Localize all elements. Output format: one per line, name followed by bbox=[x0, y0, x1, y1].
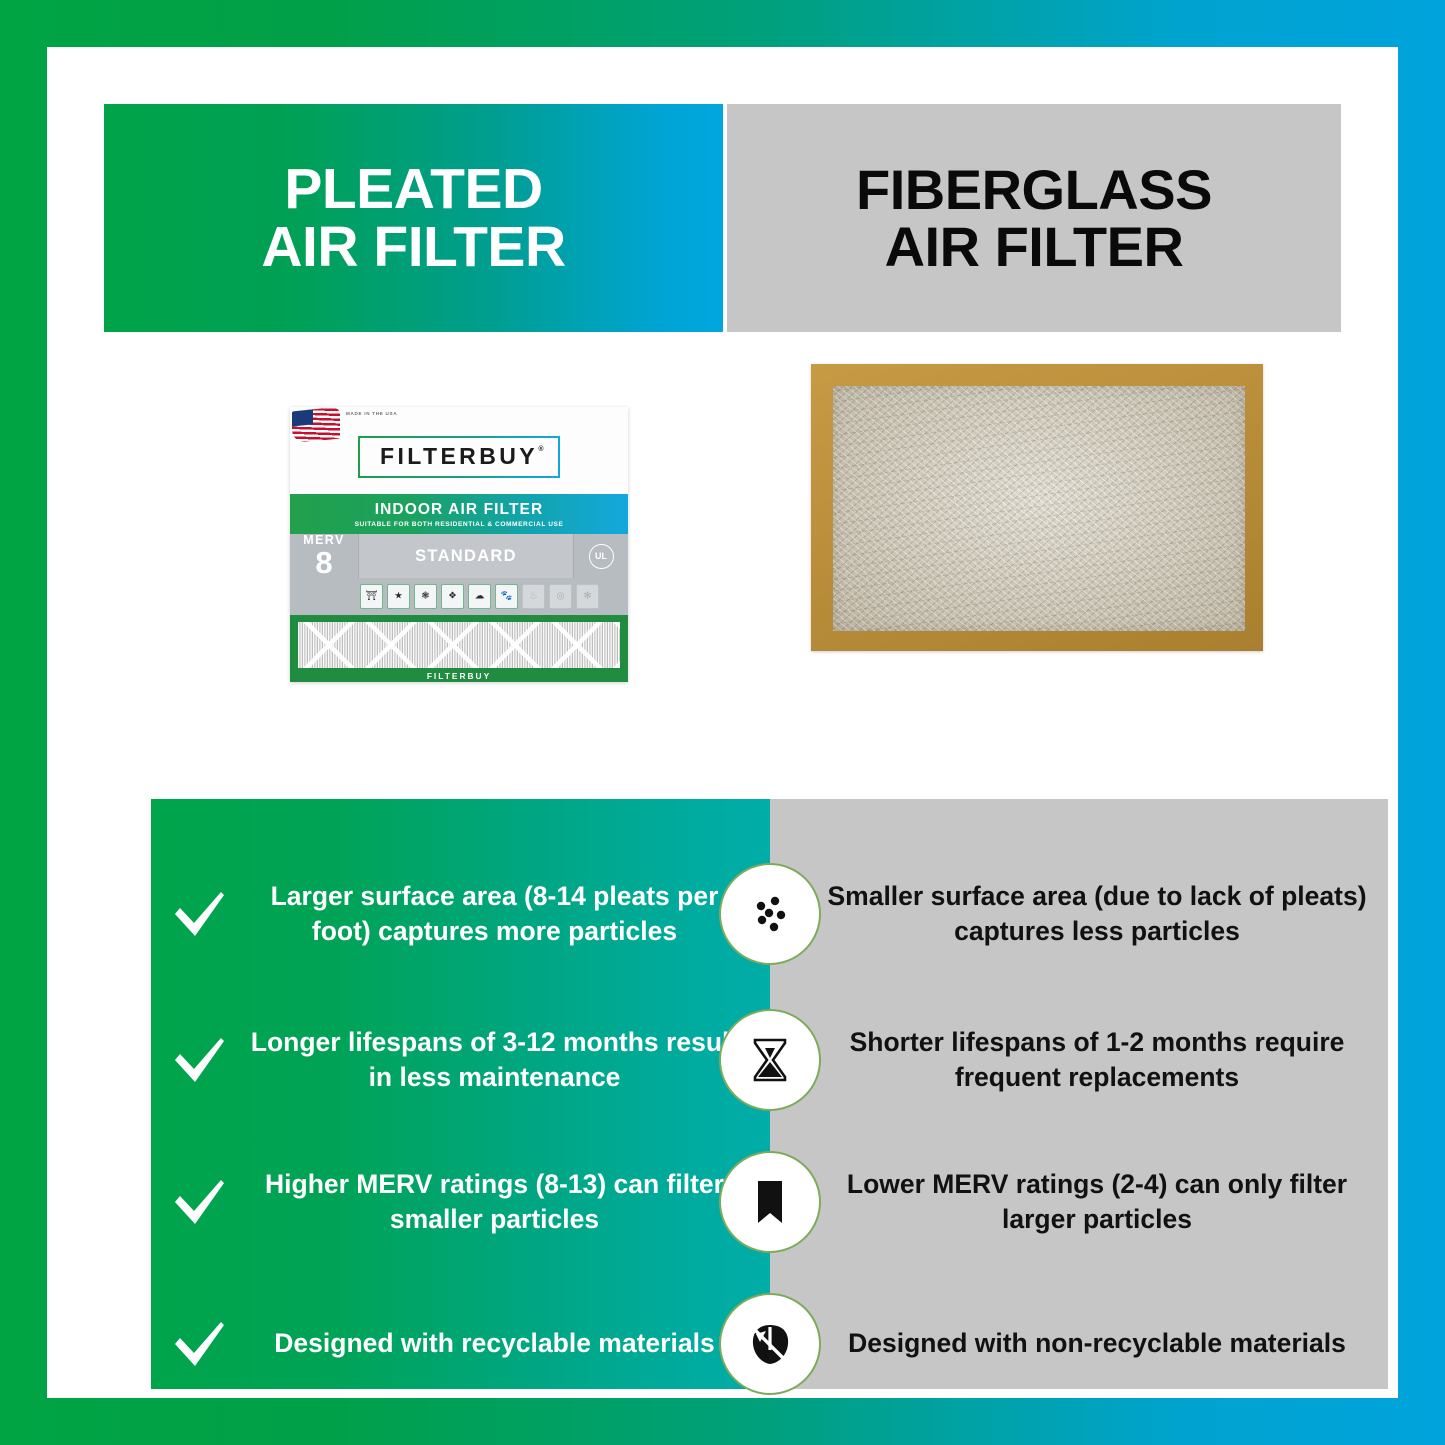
header-fiberglass-line1: FIBERGLASS bbox=[856, 161, 1212, 218]
ul-certification-icon: UL bbox=[589, 544, 614, 569]
fiberglass-product-cell bbox=[723, 332, 1341, 747]
row-pleated-side: Designed with recyclable materials bbox=[151, 1273, 770, 1415]
merv-rating-block: MERV 8 bbox=[290, 534, 358, 578]
pet-dander-icon: 🐾 bbox=[495, 584, 518, 609]
comparison-row: Longer lifespans of 3-12 months result i… bbox=[151, 989, 1388, 1131]
comparison-row: Larger surface area (8-14 pleats per foo… bbox=[151, 839, 1388, 989]
brand-name-text: FILTERBUY bbox=[380, 443, 538, 469]
bacteria-icon: ◎ bbox=[549, 584, 572, 609]
row-fiberglass-text: Designed with non-recyclable materials bbox=[770, 1326, 1388, 1361]
made-in-usa-text: MADE IN THE USA bbox=[346, 411, 397, 418]
brand-name: FILTERBUY® bbox=[380, 445, 538, 468]
comparison-panel: Larger surface area (8-14 pleats per foo… bbox=[151, 799, 1388, 1389]
fiberglass-media-texture bbox=[833, 386, 1245, 631]
hourglass-icon bbox=[719, 1009, 821, 1111]
checkmark-icon bbox=[151, 1318, 247, 1370]
pleat-texture bbox=[298, 622, 620, 668]
row-pleated-side: Longer lifespans of 3-12 months result i… bbox=[151, 989, 770, 1131]
package-band-title: INDOOR AIR FILTER bbox=[375, 501, 544, 519]
checkmark-icon bbox=[151, 1034, 247, 1086]
comparison-rows: Larger surface area (8-14 pleats per foo… bbox=[151, 799, 1388, 1389]
pleated-product-cell: MADE IN THE USA FILTERBUY® INDOOR AIR FI… bbox=[104, 332, 723, 747]
capability-tile-strip: ⛩ ★ ❃ ❖ ☁ 🐾 ♨ ◎ ✻ bbox=[290, 578, 628, 615]
brand-logo-box: FILTERBUY® bbox=[358, 436, 560, 478]
comparison-row: Designed with recyclable materials bbox=[151, 1273, 1388, 1415]
header-band: PLEATED AIR FILTER FIBERGLASS AIR FILTER bbox=[104, 104, 1341, 332]
pleated-media-area: FILTERBUY bbox=[290, 615, 628, 682]
row-fiberglass-text: Smaller surface area (due to lack of ple… bbox=[770, 879, 1388, 949]
row-fiberglass-text: Shorter lifespans of 1-2 months require … bbox=[770, 1025, 1388, 1095]
grade-cell: STANDARD bbox=[358, 534, 574, 578]
trademark-symbol: ® bbox=[538, 446, 547, 453]
infographic-canvas: PLEATED AIR FILTER FIBERGLASS AIR FILTER… bbox=[47, 47, 1398, 1398]
header-fiberglass-line2: AIR FILTER bbox=[885, 218, 1184, 275]
mold-icon: ❖ bbox=[441, 584, 464, 609]
row-fiberglass-text: Lower MERV ratings (2-4) can only filter… bbox=[770, 1167, 1388, 1237]
header-pleated: PLEATED AIR FILTER bbox=[104, 104, 723, 332]
dust-icon: ⛩ bbox=[360, 584, 383, 609]
grade-label: STANDARD bbox=[415, 547, 517, 566]
header-pleated-line1: PLEATED bbox=[284, 160, 542, 218]
leaf-icon bbox=[719, 1293, 821, 1395]
package-brand-header: MADE IN THE USA FILTERBUY® bbox=[290, 407, 628, 494]
certification-cell: UL bbox=[574, 534, 628, 578]
merv-value: 8 bbox=[315, 547, 332, 578]
row-pleated-text: Higher MERV ratings (8-13) can filter sm… bbox=[247, 1167, 770, 1237]
checkmark-icon bbox=[151, 888, 247, 940]
row-pleated-text: Designed with recyclable materials bbox=[247, 1326, 770, 1361]
header-pleated-line2: AIR FILTER bbox=[261, 218, 565, 276]
pollen-icon: ❃ bbox=[414, 584, 437, 609]
fiberglass-filter-image bbox=[811, 364, 1263, 651]
row-pleated-side: Larger surface area (8-14 pleats per foo… bbox=[151, 839, 770, 989]
package-band-subtitle: SUITABLE FOR BOTH RESIDENTIAL & COMMERCI… bbox=[355, 521, 564, 528]
header-fiberglass: FIBERGLASS AIR FILTER bbox=[727, 104, 1341, 332]
row-pleated-side: Higher MERV ratings (8-13) can filter sm… bbox=[151, 1131, 770, 1273]
product-image-row: MADE IN THE USA FILTERBUY® INDOOR AIR FI… bbox=[104, 332, 1341, 747]
checkmark-icon bbox=[151, 1176, 247, 1228]
bookmark-icon bbox=[719, 1151, 821, 1253]
pleated-filter-package: MADE IN THE USA FILTERBUY® INDOOR AIR FI… bbox=[290, 407, 628, 682]
row-pleated-text: Longer lifespans of 3-12 months result i… bbox=[247, 1025, 770, 1095]
lint-icon: ☁ bbox=[468, 584, 491, 609]
comparison-row: Higher MERV ratings (8-13) can filter sm… bbox=[151, 1131, 1388, 1273]
usa-flag-icon bbox=[292, 407, 340, 444]
particles-icon bbox=[719, 863, 821, 965]
smoke-icon: ♨ bbox=[522, 584, 545, 609]
outer-gradient-frame: PLEATED AIR FILTER FIBERGLASS AIR FILTER… bbox=[0, 0, 1445, 1445]
virus-icon: ✻ bbox=[576, 584, 599, 609]
package-spec-strip: MERV 8 STANDARD UL ⛩ ★ bbox=[290, 534, 628, 615]
row-pleated-text: Larger surface area (8-14 pleats per foo… bbox=[247, 879, 770, 949]
spec-top-row: MERV 8 STANDARD UL bbox=[290, 534, 628, 578]
package-title-band: INDOOR AIR FILTER SUITABLE FOR BOTH RESI… bbox=[290, 494, 628, 534]
package-footer-brand: FILTERBUY bbox=[290, 671, 628, 681]
dust-mite-icon: ★ bbox=[387, 584, 410, 609]
